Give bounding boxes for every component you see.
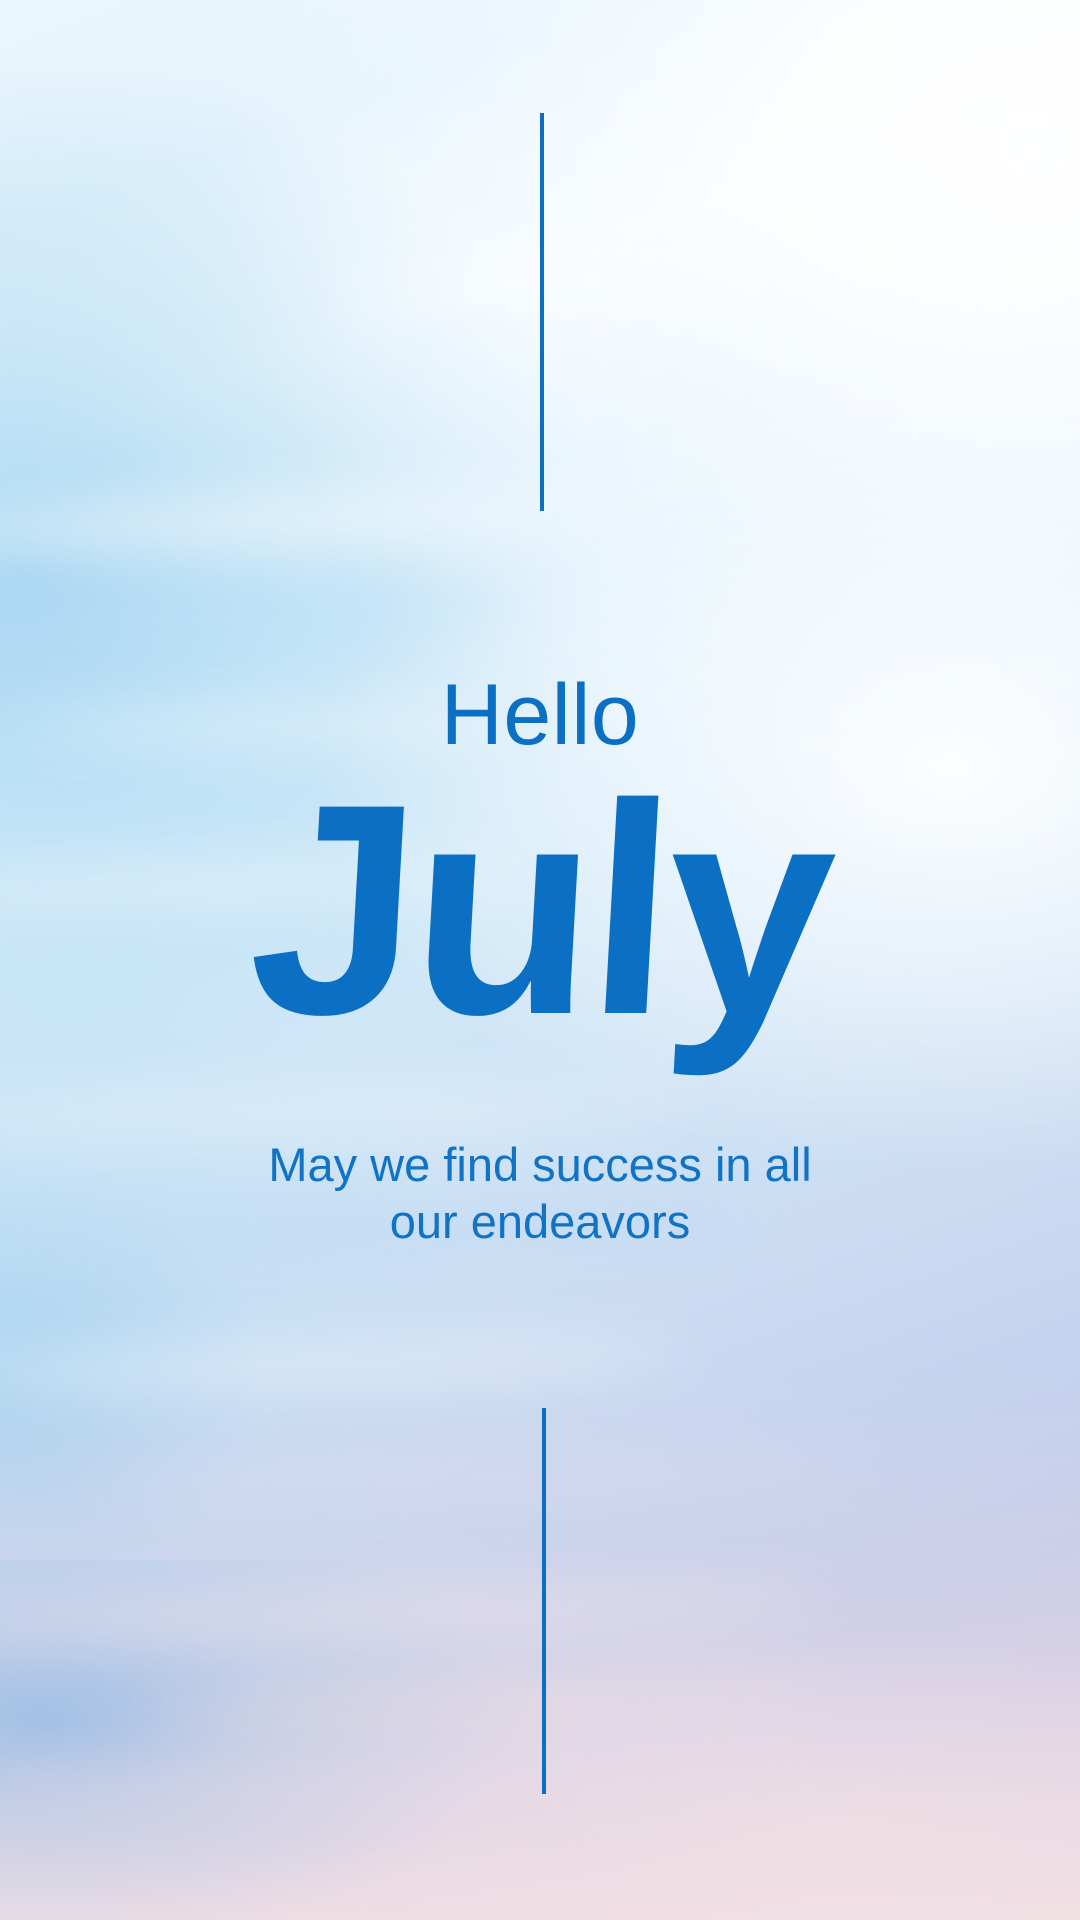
tagline-line-2: our endeavors — [190, 1193, 890, 1250]
tagline-line-1: May we find success in all — [190, 1136, 890, 1193]
month-title: July — [0, 762, 1080, 1056]
poster-canvas: Hello July May we find success in all ou… — [0, 0, 1080, 1920]
bottom-vertical-rule — [542, 1408, 546, 1794]
poster-content: Hello July May we find success in all ou… — [0, 0, 1080, 1920]
top-vertical-rule — [540, 113, 544, 511]
tagline: May we find success in all our endeavors — [190, 1136, 890, 1251]
